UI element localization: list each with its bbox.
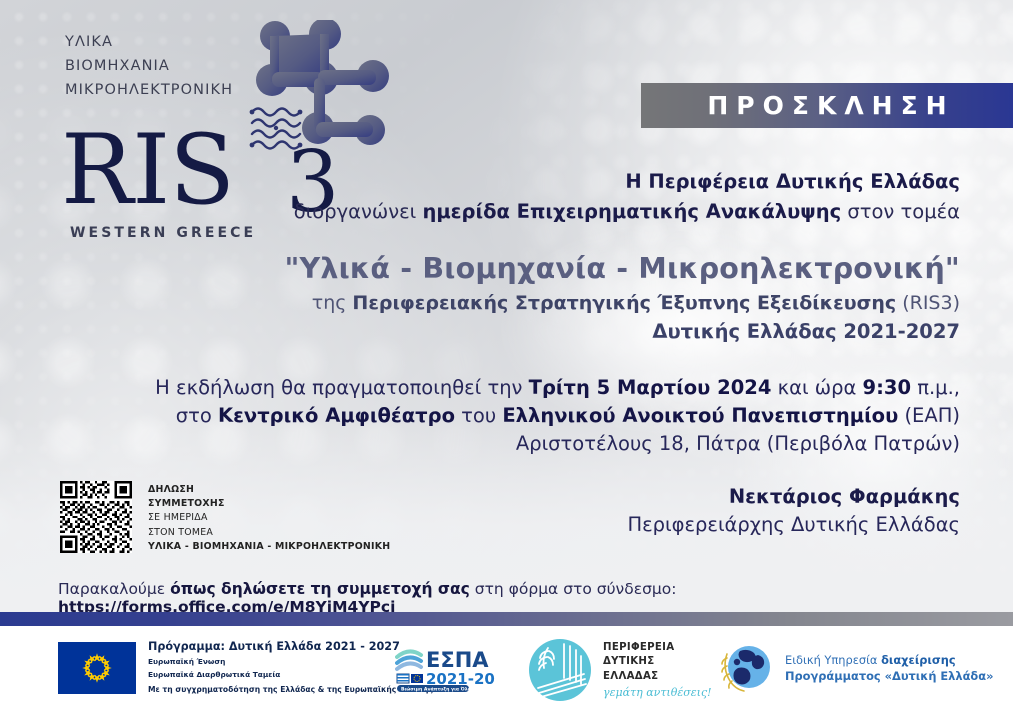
event-venue-post: (ΕΑΠ) (898, 404, 960, 427)
invitation-poster: ΥΛΙΚΑ ΒΙΟΜΗΧΑΝΙΑ ΜΙΚΡΟΗΛΕΚΤΡΟΝΙΚΗ RIS 3 … (0, 0, 1013, 713)
ris3-wordmark: RIS (61, 122, 234, 218)
qr-caption-line-4: ΣΤΟΝ ΤΟΜΕΑ (148, 526, 390, 540)
signatory-role: Περιφερειάρχης Δυτικής Ελλάδας (627, 513, 960, 536)
white-swirl-graphic (433, 120, 1013, 612)
event-datetime-pre: Η εκδήλωση θα πραγματοποιηθεί την (155, 376, 528, 399)
espa-logo-icon: ΕΣΠΑ 2021-2027 Βιώσιμη Ανάπτυξη για Όλου… (395, 643, 495, 693)
event-datetime-post: π.μ., (911, 376, 960, 399)
registration-cta[interactable]: Παρακαλούμε όπως δηλώσετε τη συμμετοχή σ… (58, 580, 1013, 616)
region-wheat-icon (528, 638, 592, 702)
region-block: ΠΕΡΙΦΕΡΕΙΑ ΔΥΤΙΚΗΣ ΕΛΛΑΔΑΣ γεμάτη αντιθέ… (528, 638, 712, 702)
eu-programme-title: Πρόγραμμα: Δυτική Ελλάδα 2021 - 2027 (148, 640, 433, 654)
strategy-pre: της (312, 292, 353, 314)
event-venue-line: στο Κεντρικό Αμφιθέατρο του Ελληνικού Αν… (176, 404, 960, 427)
qr-code-icon[interactable] (60, 481, 132, 553)
globe-olive-icon (718, 640, 774, 696)
event-venue-org: Ελληνικού Ανοικτού Πανεπιστημίου (502, 404, 898, 427)
eyd-line-1-bold: διαχείρισης (881, 653, 956, 667)
ris3-subtitle: WESTERN GREECE (70, 225, 256, 241)
qr-caption-line-3: ΣΕ ΗΜΕΡΙΔΑ (148, 511, 390, 525)
ris3-keyword-3: ΜΙΚΡΟΗΛΕΚΤΡΟΝΙΚΗ (65, 78, 233, 102)
eu-cofunding-line: Με τη συγχρηματοδότηση της Ελλάδας & της… (148, 685, 433, 695)
region-text: ΠΕΡΙΦΕΡΕΙΑ ΔΥΤΙΚΗΣ ΕΛΛΑΔΑΣ γεμάτη αντιθέ… (603, 641, 712, 700)
ris3-keywords: ΥΛΙΚΑ ΒΙΟΜΗΧΑΝΙΑ ΜΙΚΡΟΗΛΕΚΤΡΟΝΙΚΗ (65, 30, 233, 102)
eu-flag-icon (58, 642, 136, 694)
managing-authority-block: Ειδική Υπηρεσία διαχείρισης Προγράμματος… (718, 640, 993, 696)
eyd-line-1: Ειδική Υπηρεσία διαχείρισης (785, 652, 993, 668)
ris3-keyword-1: ΥΛΙΚΑ (65, 30, 233, 54)
eu-funding-block: Πρόγραμμα: Δυτική Ελλάδα 2021 - 2027 Ευρ… (58, 640, 433, 695)
cta-mid: στη φόρμα στο σύνδεσμο: (470, 580, 677, 598)
page-title: "Υλικά - Βιομηχανία - Μικροηλεκτρονική" (284, 252, 960, 285)
cta-pre: Παρακαλούμε (58, 580, 170, 598)
eyd-line-1-pre: Ειδική Υπηρεσία (785, 653, 881, 667)
espa-tagline: Βιώσιμη Ανάπτυξη για Όλους (401, 685, 477, 692)
event-datetime-mid: και ώρα (771, 376, 862, 399)
eyd-line-2: Προγράμματος «Δυτική Ελλάδα» (785, 668, 993, 684)
event-time: 9:30 (863, 376, 912, 399)
invitation-banner-label: ΠΡΟΣΚΛΗΣΗ (699, 91, 954, 120)
event-type-pre: διοργανώνει (294, 200, 423, 223)
espa-name: ΕΣΠΑ (426, 648, 489, 672)
region-slogan: γεμάτη αντιθέσεις! (603, 686, 712, 699)
managing-authority-text: Ειδική Υπηρεσία διαχείρισης Προγράμματος… (785, 652, 993, 684)
strategy-line: της Περιφερειακής Στρατηγικής Έξυπνης Εξ… (312, 292, 960, 314)
qr-caption-line-1: ΔΗΛΩΣΗ (148, 483, 390, 497)
strategy-bold: Περιφερειακής Στρατηγικής Έξυπνης Εξειδί… (352, 292, 896, 314)
eu-union-line: Ευρωπαϊκή Ένωση (148, 657, 433, 667)
event-address-line: Αριστοτέλους 18, Πάτρα (Περιβόλα Πατρών) (516, 432, 960, 455)
invitation-banner: ΠΡΟΣΚΛΗΣΗ (641, 83, 1013, 128)
event-type-post: στον τομέα (841, 200, 960, 223)
eu-funds-line: Ευρωπαϊκά Διαρθρωτικά Ταμεία (148, 670, 433, 680)
event-venue-pre: στο (176, 404, 218, 427)
event-datetime-line: Η εκδήλωση θα πραγματοποιηθεί την Τρίτη … (155, 376, 960, 399)
region-line-3: ΕΛΛΑΔΑΣ (603, 670, 712, 685)
region-line-1: ΠΕΡΙΦΕΡΕΙΑ (603, 641, 712, 656)
espa-block: ΕΣΠΑ 2021-2027 Βιώσιμη Ανάπτυξη για Όλου… (395, 643, 495, 693)
cta-bold: όπως δηλώσετε τη συμμετοχή σας (170, 580, 470, 598)
event-type-bold: ημερίδα Επιχειρηματικής Ανακάλυψης (422, 200, 841, 223)
event-date: Τρίτη 5 Μαρτίου 2024 (529, 376, 772, 399)
region-line-2: ΔΥΤΙΚΗΣ (603, 655, 712, 670)
event-venue-mid: του (455, 404, 502, 427)
strategy-period: Δυτικής Ελλάδας 2021-2027 (652, 320, 960, 343)
gradient-divider (0, 612, 1013, 626)
event-venue-hall: Κεντρικό Αμφιθέατρο (218, 404, 455, 427)
qr-code-block[interactable] (60, 481, 132, 553)
footer-logos: Πρόγραμμα: Δυτική Ελλάδα 2021 - 2027 Ευρ… (0, 626, 1013, 713)
qr-caption: ΔΗΛΩΣΗ ΣΥΜΜΕΤΟΧΗΣ ΣΕ ΗΜΕΡΙΔΑ ΣΤΟΝ ΤΟΜΕΑ … (148, 483, 390, 554)
strategy-post: (RIS3) (896, 292, 960, 314)
qr-caption-line-5: ΥΛΙΚΑ - ΒΙΟΜΗΧΑΝΙΑ - ΜΙΚΡΟΗΛΕΚΤΡΟΝΙΚΗ (148, 540, 390, 554)
ris3-keyword-2: ΒΙΟΜΗΧΑΝΙΑ (65, 54, 233, 78)
qr-caption-line-2: ΣΥΜΜΕΤΟΧΗΣ (148, 497, 390, 511)
eu-funding-text: Πρόγραμμα: Δυτική Ελλάδα 2021 - 2027 Ευρ… (148, 640, 433, 695)
signatory-name: Νεκτάριος Φαρμάκης (729, 485, 960, 508)
event-type-line: διοργανώνει ημερίδα Επιχειρηματικής Ανακ… (294, 200, 960, 223)
organizer-line: Η Περιφέρεια Δυτικής Ελλάδας (625, 170, 960, 193)
